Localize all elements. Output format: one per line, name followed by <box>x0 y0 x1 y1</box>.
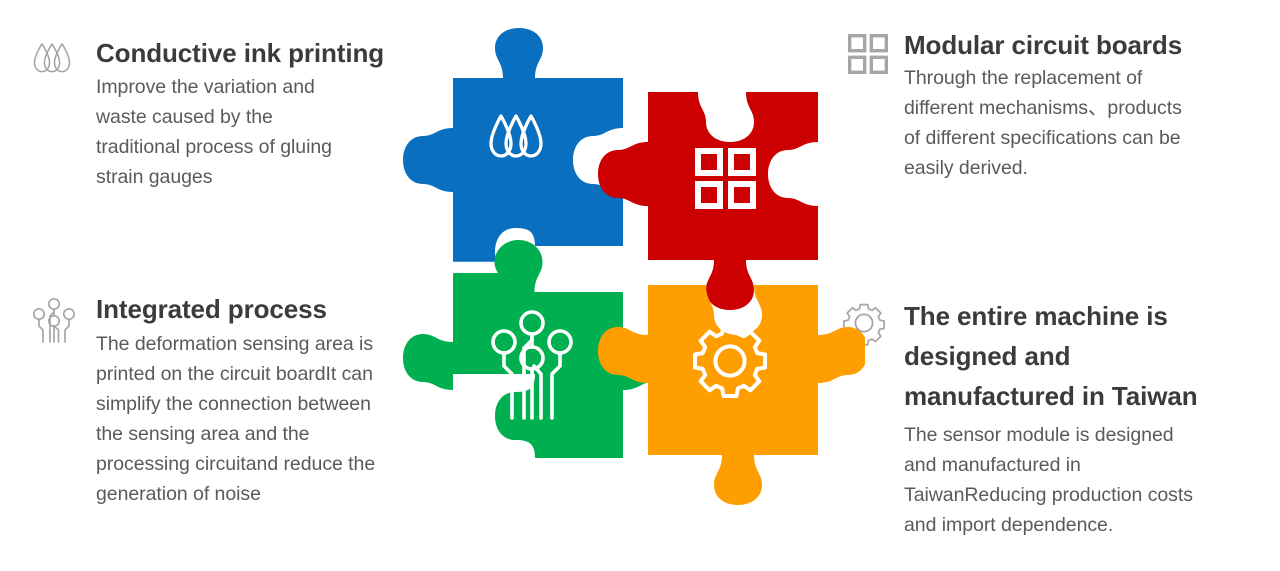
feature-heading: Conductive ink printing <box>96 36 436 70</box>
feature-text-block: Conductive ink printing Improve the vari… <box>82 36 436 192</box>
feature-body: The deformation sensing area is printed … <box>96 329 446 509</box>
feature-text-block: The entire machine is designed and manuf… <box>892 296 1262 540</box>
feature-body: The sensor module is designed and manufa… <box>904 420 1262 540</box>
feature-heading: Modular circuit boards <box>904 28 1258 62</box>
feature-modular-circuit-boards: Modular circuit boards Through the repla… <box>840 28 1258 183</box>
feature-body: Through the replacement of different mec… <box>904 63 1258 183</box>
feature-body: Improve the variation and waste caused b… <box>96 72 436 192</box>
circuit-nodes-icon <box>26 292 82 346</box>
infographic-canvas: Conductive ink printing Improve the vari… <box>0 0 1280 571</box>
feature-heading: Integrated process <box>96 292 446 326</box>
blue-puzzle-piece[interactable] <box>403 28 623 262</box>
feature-conductive-ink-printing: Conductive ink printing Improve the vari… <box>26 36 436 192</box>
feature-text-block: Modular circuit boards Through the repla… <box>896 28 1258 183</box>
puzzle-graphic <box>395 18 865 553</box>
feature-text-block: Integrated process The deformation sensi… <box>82 292 446 509</box>
water-drops-icon <box>26 36 82 90</box>
feature-integrated-process: Integrated process The deformation sensi… <box>26 292 446 509</box>
orange-puzzle-piece[interactable] <box>598 285 865 505</box>
red-puzzle-piece[interactable] <box>598 92 818 310</box>
feature-entire-machine-taiwan: The entire machine is designed and manuf… <box>836 296 1262 540</box>
feature-heading: The entire machine is designed and manuf… <box>904 296 1262 416</box>
